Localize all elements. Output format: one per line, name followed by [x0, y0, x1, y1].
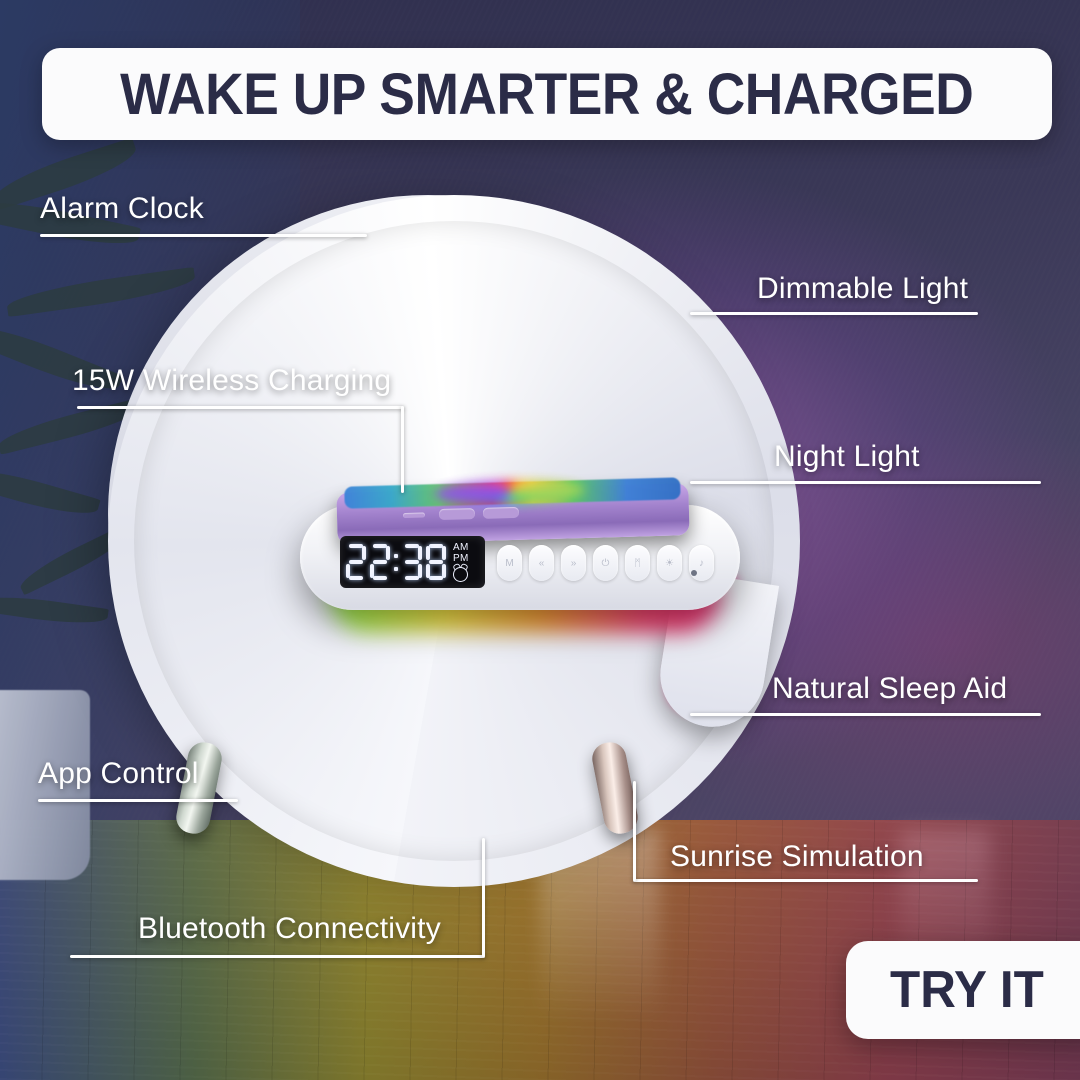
button-bluetooth[interactable]: ᛗ [625, 545, 650, 581]
callout-leader-sunrise-simulation [633, 781, 636, 881]
phone-volume-down [483, 507, 519, 519]
callout-rule-app-control [38, 799, 238, 802]
callout-rule-alarm-clock [40, 234, 367, 237]
headline-banner: WAKE UP SMARTER & CHARGED [42, 48, 1052, 140]
callout-night-light: Night Light [774, 440, 920, 474]
callout-leader-wireless-charging [401, 406, 404, 493]
callout-rule-dimmable-light [690, 312, 978, 315]
callout-wireless-charging: 15W Wireless Charging [72, 364, 391, 398]
plant-leaf [0, 591, 109, 629]
callout-rule-sunrise-simulation [633, 879, 978, 882]
plant-leaf [0, 461, 101, 523]
am-pm-indicator: AM PM [453, 543, 469, 582]
callout-rule-bluetooth [70, 955, 485, 958]
button-mode[interactable]: M [497, 545, 522, 581]
callout-dimmable-light: Dimmable Light [757, 272, 968, 306]
callout-rule-wireless-charging [77, 406, 404, 409]
button-power[interactable]: ⏻ [593, 545, 618, 581]
button-next[interactable]: » [561, 545, 586, 581]
led-clock-display: AM PM [340, 536, 485, 588]
alarm-bell-icon [453, 567, 468, 582]
phone-mute-switch [403, 512, 425, 518]
try-it-label: TRY IT [890, 960, 1044, 1020]
callout-natural-sleep-aid: Natural Sleep Aid [772, 672, 1007, 706]
callout-rule-natural-sleep-aid [690, 713, 1041, 716]
try-it-button[interactable]: TRY IT [846, 941, 1080, 1039]
product-infographic: AM PM M « » ⏻ ᛗ ☀ ♪ WAKE UP SMARTER & CH… [0, 0, 1080, 1080]
digit-minute-ones [426, 544, 446, 580]
callout-rule-night-light [690, 481, 1041, 484]
device-control-buttons: M « » ⏻ ᛗ ☀ ♪ [497, 545, 714, 581]
callout-app-control: App Control [38, 757, 199, 791]
phone-volume-up [439, 508, 475, 520]
digit-hour-tens [346, 544, 366, 580]
button-previous[interactable]: « [529, 545, 554, 581]
page-title: WAKE UP SMARTER & CHARGED [120, 61, 973, 128]
digit-hour-ones [370, 544, 390, 580]
callout-leader-bluetooth [482, 838, 485, 957]
clock-colon [394, 544, 398, 580]
am-label: AM [453, 543, 469, 554]
callout-alarm-clock: Alarm Clock [40, 192, 204, 226]
callout-sunrise-simulation: Sunrise Simulation [670, 840, 924, 874]
clock-digits [346, 544, 446, 580]
digit-minute-tens [402, 544, 422, 580]
button-light[interactable]: ☀ [657, 545, 682, 581]
callout-bluetooth: Bluetooth Connectivity [138, 912, 441, 946]
status-led [691, 570, 697, 576]
